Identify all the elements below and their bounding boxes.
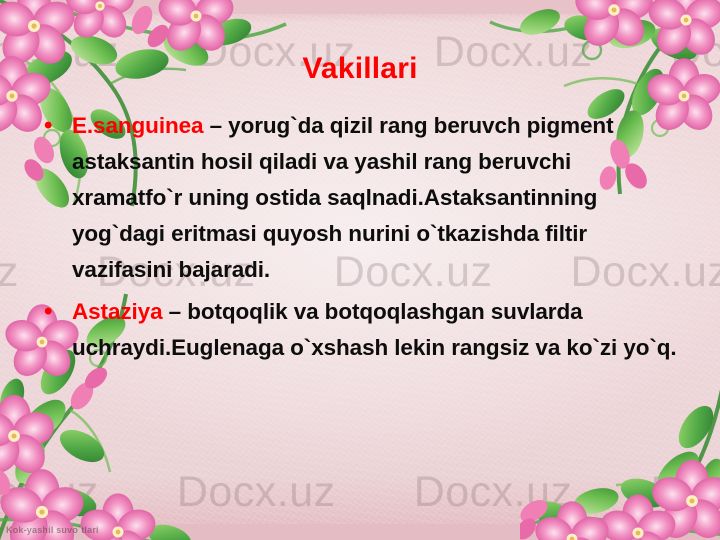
list-item: E.sanguinea – yorug`da qizil rang beruvc…: [36, 108, 684, 288]
bullet-term: Astaziya: [72, 299, 163, 324]
bullet-separator: –: [203, 113, 228, 138]
slide-content: Vakillari E.sanguinea – yorug`da qizil r…: [0, 0, 720, 540]
bullet-term: E.sanguinea: [72, 113, 203, 138]
list-item: Astaziya – botqoqlik va botqoqlashgan su…: [36, 294, 684, 366]
page-title: Vakillari: [0, 52, 720, 85]
slide-canvas: Docx.uz Docx.uz Docx.uz Docx.uz Docx.uz …: [0, 0, 720, 540]
bullet-separator: –: [163, 299, 188, 324]
credit-watermark: Kok-yashil suvo`tlari: [6, 525, 99, 535]
bullet-text: yorug`da qizil rang beruvch pigment asta…: [72, 113, 613, 282]
bullet-list: E.sanguinea – yorug`da qizil rang beruvc…: [36, 108, 684, 372]
